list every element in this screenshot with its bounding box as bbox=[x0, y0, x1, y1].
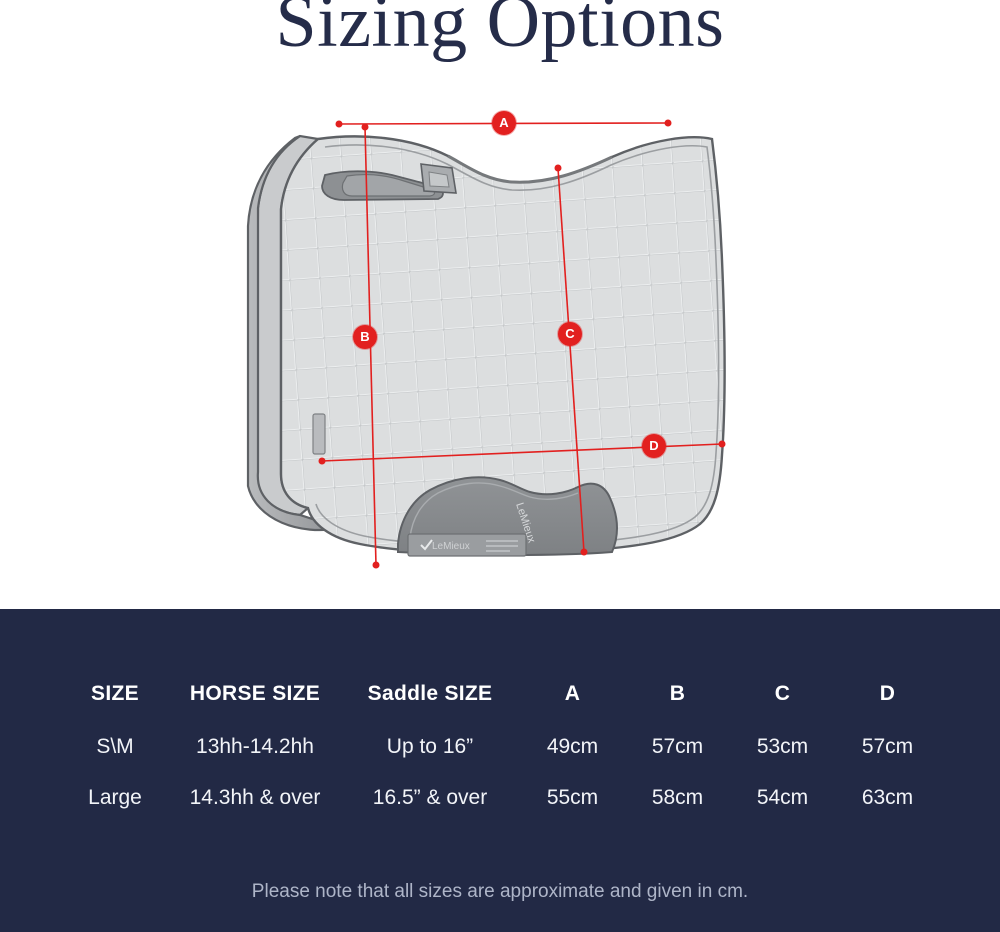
cell-saddle: Up to 16” bbox=[340, 721, 520, 772]
size-table: SIZE HORSE SIZE Saddle SIZE A B C D S\M … bbox=[60, 667, 940, 823]
cell-c: 53cm bbox=[730, 721, 835, 772]
pad-body: LeMieux LeMieux bbox=[281, 136, 725, 556]
column-header-b: B bbox=[625, 667, 730, 721]
saddle-pad-illustration: LeMieux LeMieux bbox=[0, 0, 1000, 609]
svg-text:LeMieux: LeMieux bbox=[432, 541, 470, 552]
table-row: Large 14.3hh & over 16.5” & over 55cm 58… bbox=[60, 772, 940, 823]
cell-c: 54cm bbox=[730, 772, 835, 823]
cell-horse: 13hh-14.2hh bbox=[170, 721, 340, 772]
column-header-saddle-size: Saddle SIZE bbox=[340, 667, 520, 721]
column-header-a: A bbox=[520, 667, 625, 721]
column-header-size: SIZE bbox=[60, 667, 170, 721]
column-header-c: C bbox=[730, 667, 835, 721]
column-header-d: D bbox=[835, 667, 940, 721]
cell-size: Large bbox=[60, 772, 170, 823]
cell-size: S\M bbox=[60, 721, 170, 772]
saddle-pad-diagram: LeMieux LeMieux bbox=[0, 0, 1000, 609]
measure-badge-d: D bbox=[642, 434, 666, 458]
table-row: S\M 13hh-14.2hh Up to 16” 49cm 57cm 53cm… bbox=[60, 721, 940, 772]
table-header-row: SIZE HORSE SIZE Saddle SIZE A B C D bbox=[60, 667, 940, 721]
table-footnote: Please note that all sizes are approxima… bbox=[0, 881, 1000, 903]
cell-a: 49cm bbox=[520, 721, 625, 772]
column-header-horse-size: HORSE SIZE bbox=[170, 667, 340, 721]
cell-b: 57cm bbox=[625, 721, 730, 772]
cell-horse: 14.3hh & over bbox=[170, 772, 340, 823]
cell-a: 55cm bbox=[520, 772, 625, 823]
measure-badge-b: B bbox=[353, 325, 377, 349]
cell-b: 58cm bbox=[625, 772, 730, 823]
cell-d: 57cm bbox=[835, 721, 940, 772]
size-table-panel: SIZE HORSE SIZE Saddle SIZE A B C D S\M … bbox=[0, 609, 1000, 932]
measure-badge-a: A bbox=[492, 111, 516, 135]
side-brand-tab bbox=[313, 414, 325, 454]
measure-badge-c: C bbox=[558, 322, 582, 346]
cell-d: 63cm bbox=[835, 772, 940, 823]
cell-saddle: 16.5” & over bbox=[340, 772, 520, 823]
wither-tab-detail bbox=[421, 164, 456, 193]
sizing-diagram-panel: Sizing Options bbox=[0, 0, 1000, 609]
